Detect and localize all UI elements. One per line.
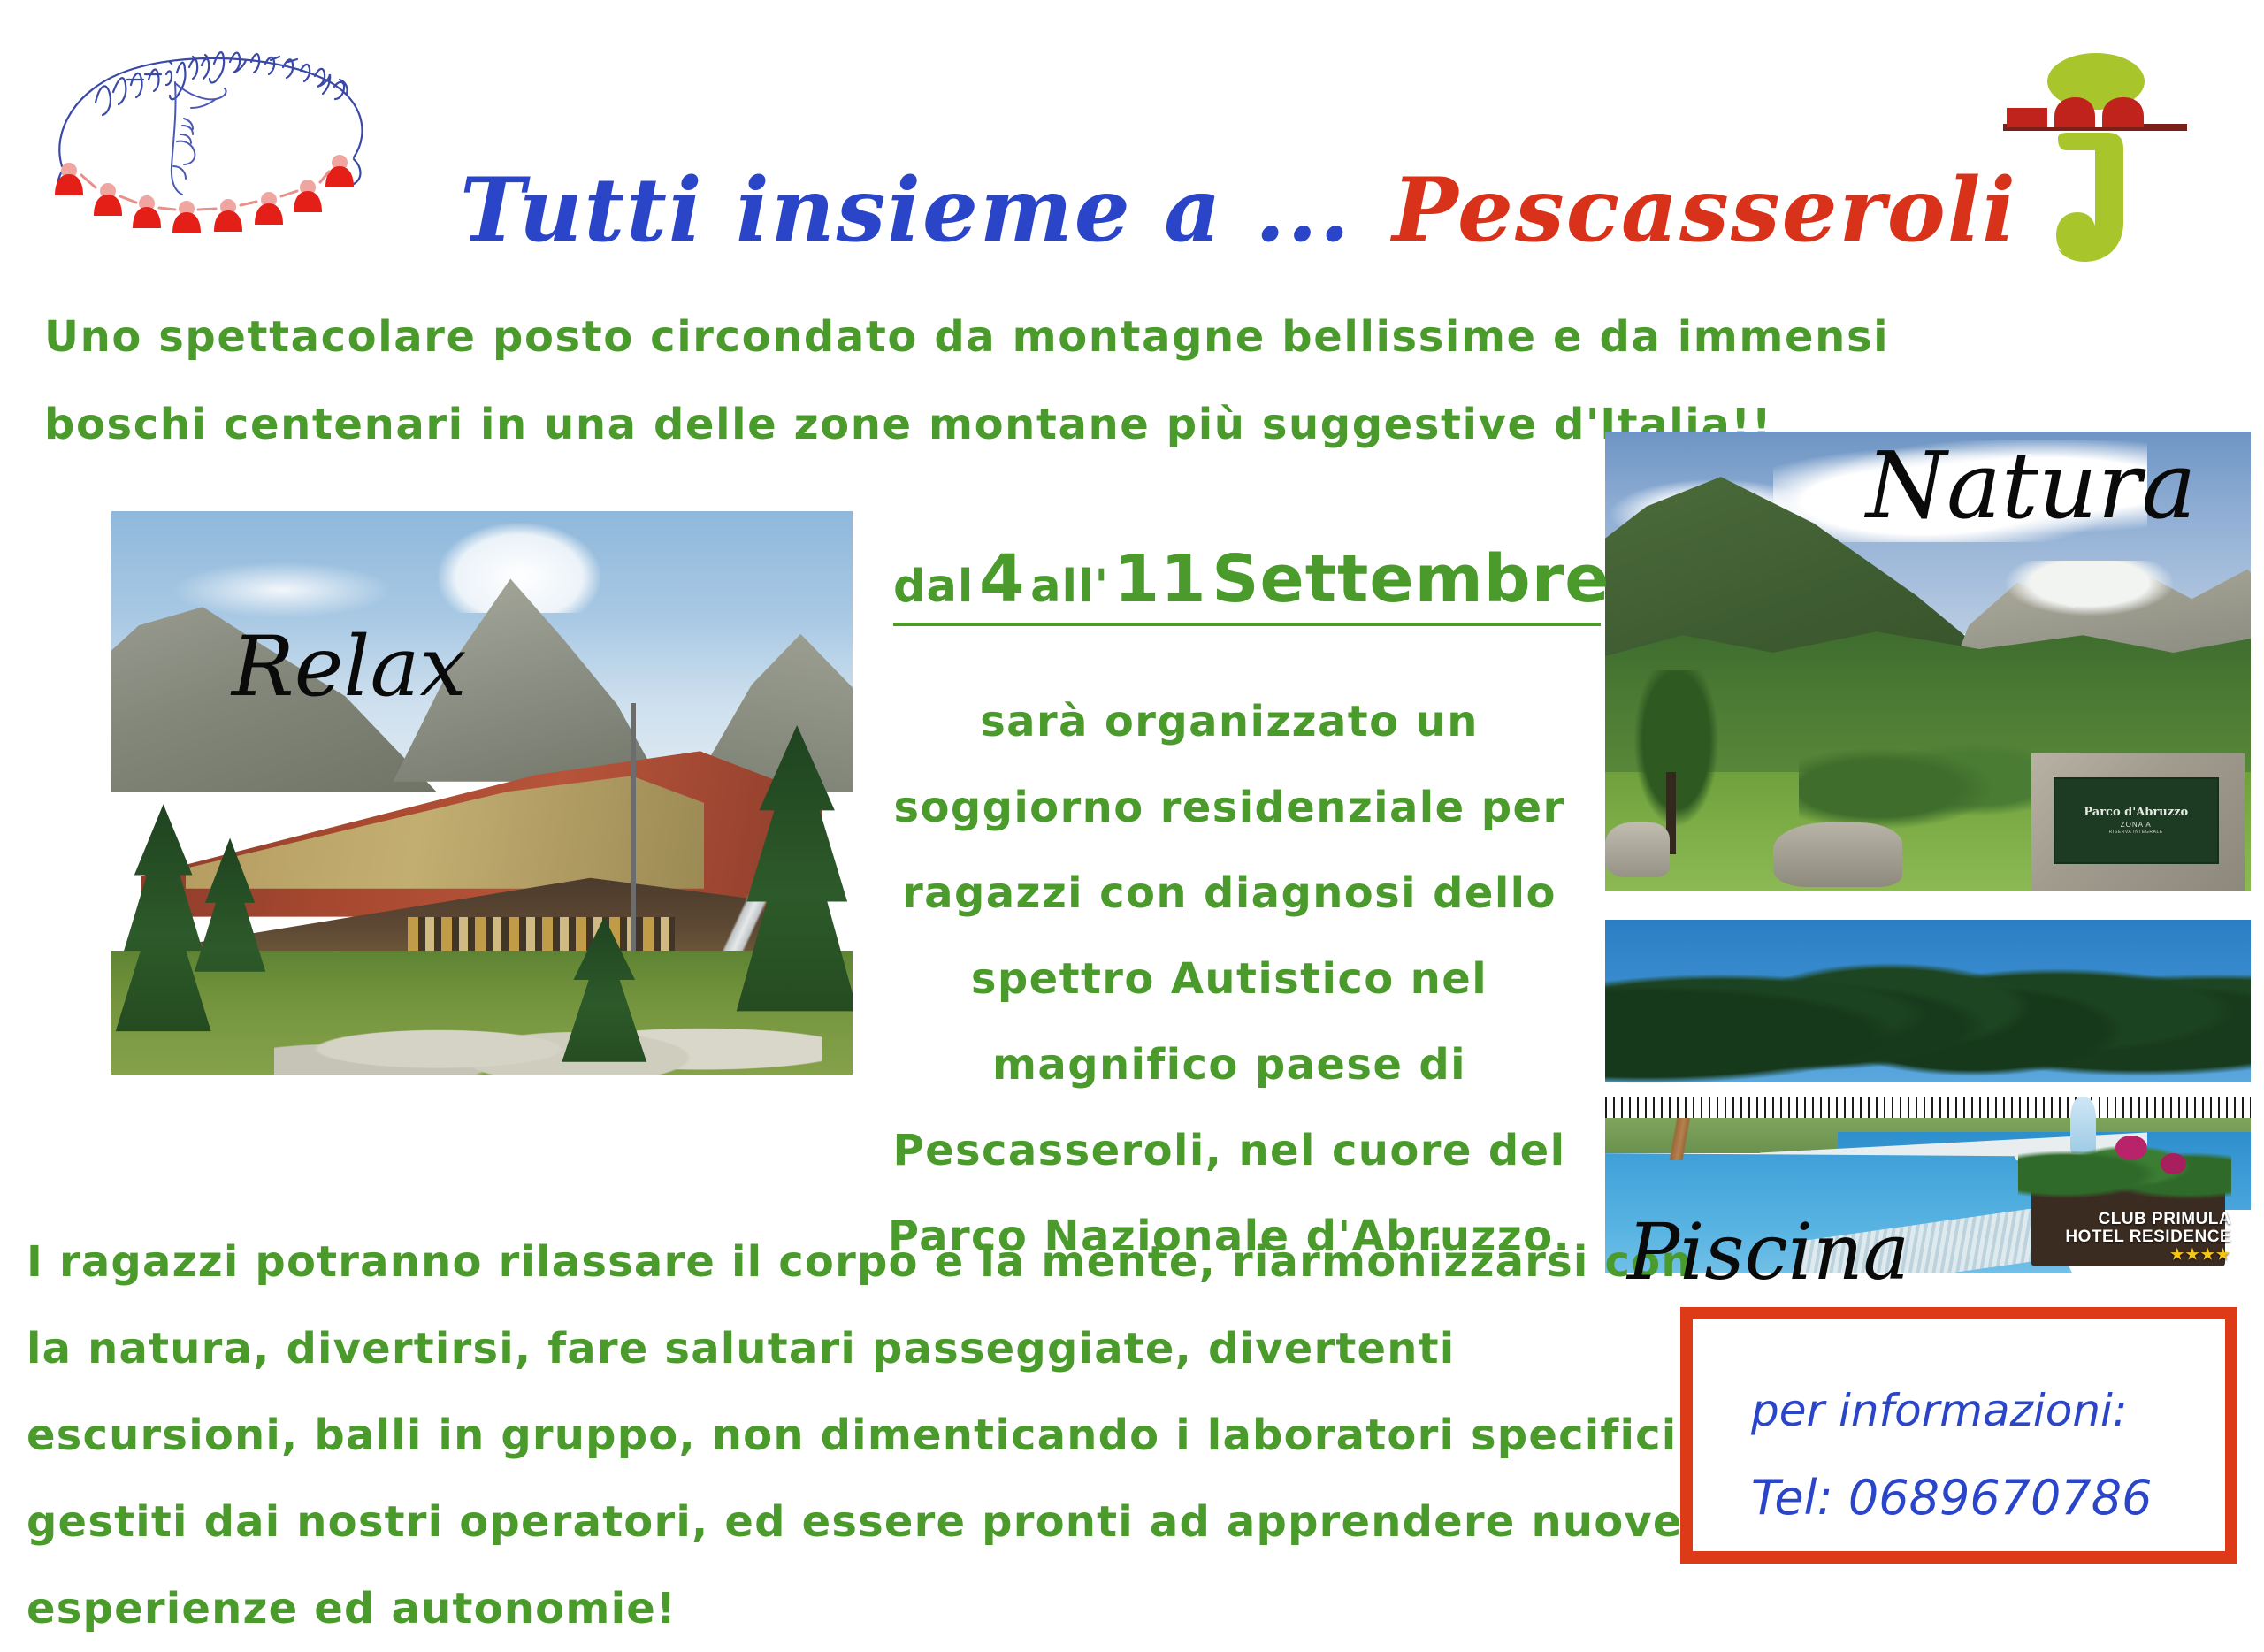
- contact-phone: Tel: 0689670786: [1751, 1470, 2152, 1526]
- hotel-watermark: CLUB PRIMULA HOTEL RESIDENCE ★★★★: [2065, 1211, 2231, 1263]
- photo-caption-piscina: Piscina: [1627, 1206, 1909, 1297]
- tuttigiuperterra-logo: [42, 34, 387, 237]
- contact-box: per informazioni: Tel: 0689670786: [1680, 1307, 2237, 1564]
- photo-relax: [111, 511, 853, 1075]
- page-title: Tutti insieme a ...Pescasseroli: [460, 157, 1769, 264]
- bottom-paragraph: I ragazzi potranno rilassare il corpo e …: [27, 1219, 1707, 1652]
- dateline-day-to: 11: [1114, 541, 1207, 617]
- dateline: dal 4 all' 11 Settembre: [893, 541, 1601, 626]
- park-sign-line3: RISERVA INTEGRALE: [2109, 830, 2163, 835]
- mj-logo: [1994, 42, 2215, 268]
- park-sign-line2: ZONA A: [2121, 821, 2152, 829]
- watermark-line2: HOTEL RESIDENCE: [2065, 1228, 2231, 1247]
- poster-canvas: Tutti insieme a ...Pescasseroli Uno spet…: [0, 0, 2264, 1600]
- park-sign: Parco d'Abruzzo ZONA A RISERVA INTEGRALE: [2054, 777, 2219, 864]
- photo-caption-relax: Relax: [232, 619, 467, 715]
- watermark-line1: CLUB PRIMULA: [2065, 1211, 2231, 1229]
- center-paragraph: sarà organizzato un soggiorno residenzia…: [871, 679, 1587, 1280]
- park-sign-line1: Parco d'Abruzzo: [2084, 807, 2188, 818]
- dateline-prefix: dal: [893, 561, 974, 613]
- dateline-day-from: 4: [979, 541, 1026, 617]
- dateline-middle: all': [1030, 561, 1109, 613]
- dateline-month: Settembre: [1212, 541, 1610, 617]
- photo-caption-natura: Natura: [1866, 432, 2197, 539]
- title-part-blue: Tutti insieme a ...: [460, 159, 1351, 262]
- contact-label: per informazioni:: [1751, 1385, 2128, 1436]
- title-part-red: Pescasseroli: [1392, 159, 2017, 262]
- watermark-stars: ★★★★: [2065, 1247, 2231, 1263]
